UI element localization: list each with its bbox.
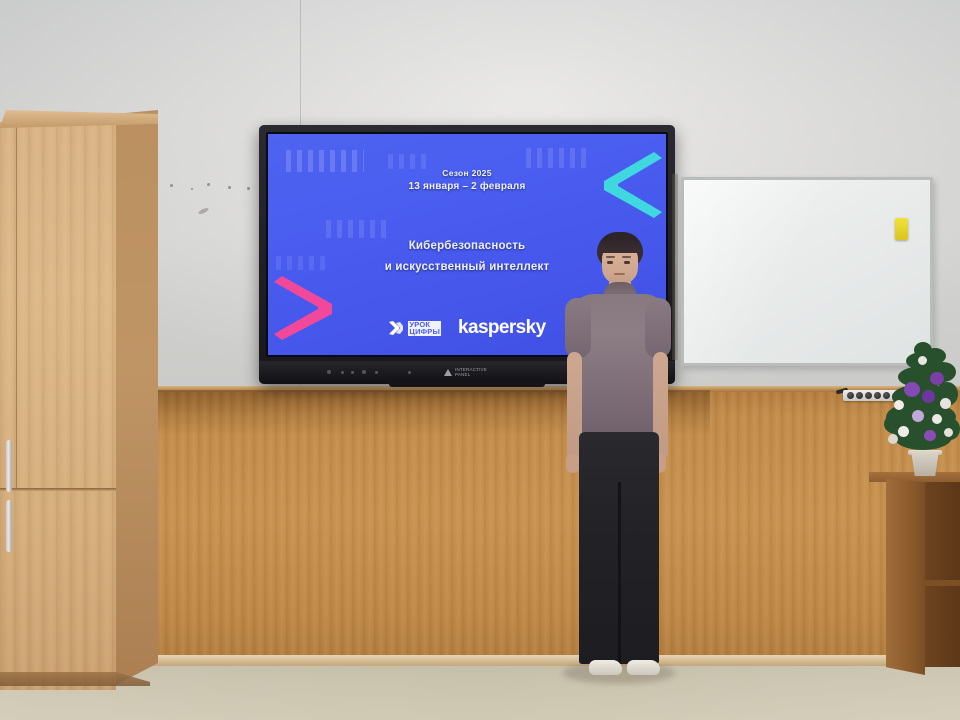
brand-line2: PANEL <box>455 372 487 377</box>
cabinet-front <box>0 122 116 690</box>
person-eyebrow-left <box>606 256 615 258</box>
person-shoe-right <box>627 660 660 675</box>
tree-ornament <box>922 390 935 403</box>
urok-chevron-icon <box>388 320 404 336</box>
display-mount-foot <box>389 382 545 387</box>
whiteboard-glare <box>684 180 930 363</box>
urok-cifry-wordmark: УРОК ЦИФРЫ <box>408 321 441 336</box>
display-sensor <box>408 371 411 374</box>
tree-ornament <box>944 428 953 437</box>
wall-nail-mark <box>247 187 250 190</box>
dry-erase-whiteboard[interactable] <box>681 177 933 366</box>
brand-triangle-icon <box>444 369 452 376</box>
power-socket[interactable] <box>874 392 881 399</box>
tree-ornament <box>904 382 920 397</box>
slide-season-label: Сезон 2025 <box>268 168 666 179</box>
urok-cifry-logo: УРОК ЦИФРЫ <box>388 320 441 336</box>
whiteboard-magnet-note[interactable] <box>895 218 908 240</box>
display-control-button[interactable] <box>341 371 344 374</box>
classroom-photo-scene: Сезон 2025 13 января – 2 февраля Кибербе… <box>0 0 960 720</box>
tree-ornament <box>888 434 898 444</box>
person-hair-fringe <box>598 238 642 253</box>
wall-nail-mark <box>228 186 231 189</box>
urok-line2: ЦИФРЫ <box>408 328 441 336</box>
tree-pot <box>910 452 940 476</box>
tree-ornament <box>932 414 942 424</box>
person-sleeve-right <box>645 298 671 358</box>
tree-ornament <box>898 426 909 437</box>
person-eye-right <box>624 261 630 264</box>
person-trouser-leg-split <box>618 482 621 664</box>
decorated-christmas-tree <box>884 342 960 477</box>
cabinet-side-panel <box>114 110 158 686</box>
slide-stripe-decor <box>388 154 432 169</box>
cabinet-door-divider <box>0 488 116 491</box>
tree-ornament <box>924 430 936 441</box>
wall-nail-mark <box>207 183 210 186</box>
tree-ornament <box>930 372 944 385</box>
standing-woman-presenter <box>541 232 693 694</box>
tree-ornament <box>940 398 951 409</box>
power-socket[interactable] <box>856 392 863 399</box>
tree-foliage <box>884 342 960 460</box>
slide-dates-label: 13 января – 2 февраля <box>268 180 666 194</box>
display-power-button[interactable] <box>327 370 331 374</box>
display-control-button[interactable] <box>351 371 354 374</box>
slide-stripe-decor <box>326 220 386 238</box>
cabinet-handle-upper[interactable] <box>6 440 12 492</box>
wooden-storage-cabinet[interactable] <box>0 110 160 690</box>
tree-ornament <box>894 400 904 410</box>
desk-side-leg <box>886 479 925 675</box>
power-socket[interactable] <box>847 392 854 399</box>
kaspersky-logo: kaspersky <box>458 317 546 339</box>
person-eyebrow-right <box>622 256 631 258</box>
person-shoe-left <box>589 660 622 675</box>
person-sleeve-left <box>565 298 591 358</box>
person-eye-left <box>607 261 613 264</box>
tree-ornament <box>918 356 927 365</box>
tree-ornament <box>912 410 924 422</box>
cabinet-handle-lower[interactable] <box>6 500 12 552</box>
display-brand-mark: INTERACTIVE PANEL <box>444 367 487 378</box>
person-mouth <box>614 273 625 275</box>
desk-back-panel <box>922 479 960 667</box>
power-socket[interactable] <box>865 392 872 399</box>
display-control-button[interactable] <box>375 371 378 374</box>
slide-stripe-decor <box>526 148 592 168</box>
wall-nail-mark <box>191 188 193 190</box>
wall-nail-mark <box>170 184 173 187</box>
display-control-button[interactable] <box>362 370 366 374</box>
desk-shelf <box>925 580 960 586</box>
cabinet-door-seam <box>16 122 17 488</box>
person-hand-left <box>566 454 580 473</box>
